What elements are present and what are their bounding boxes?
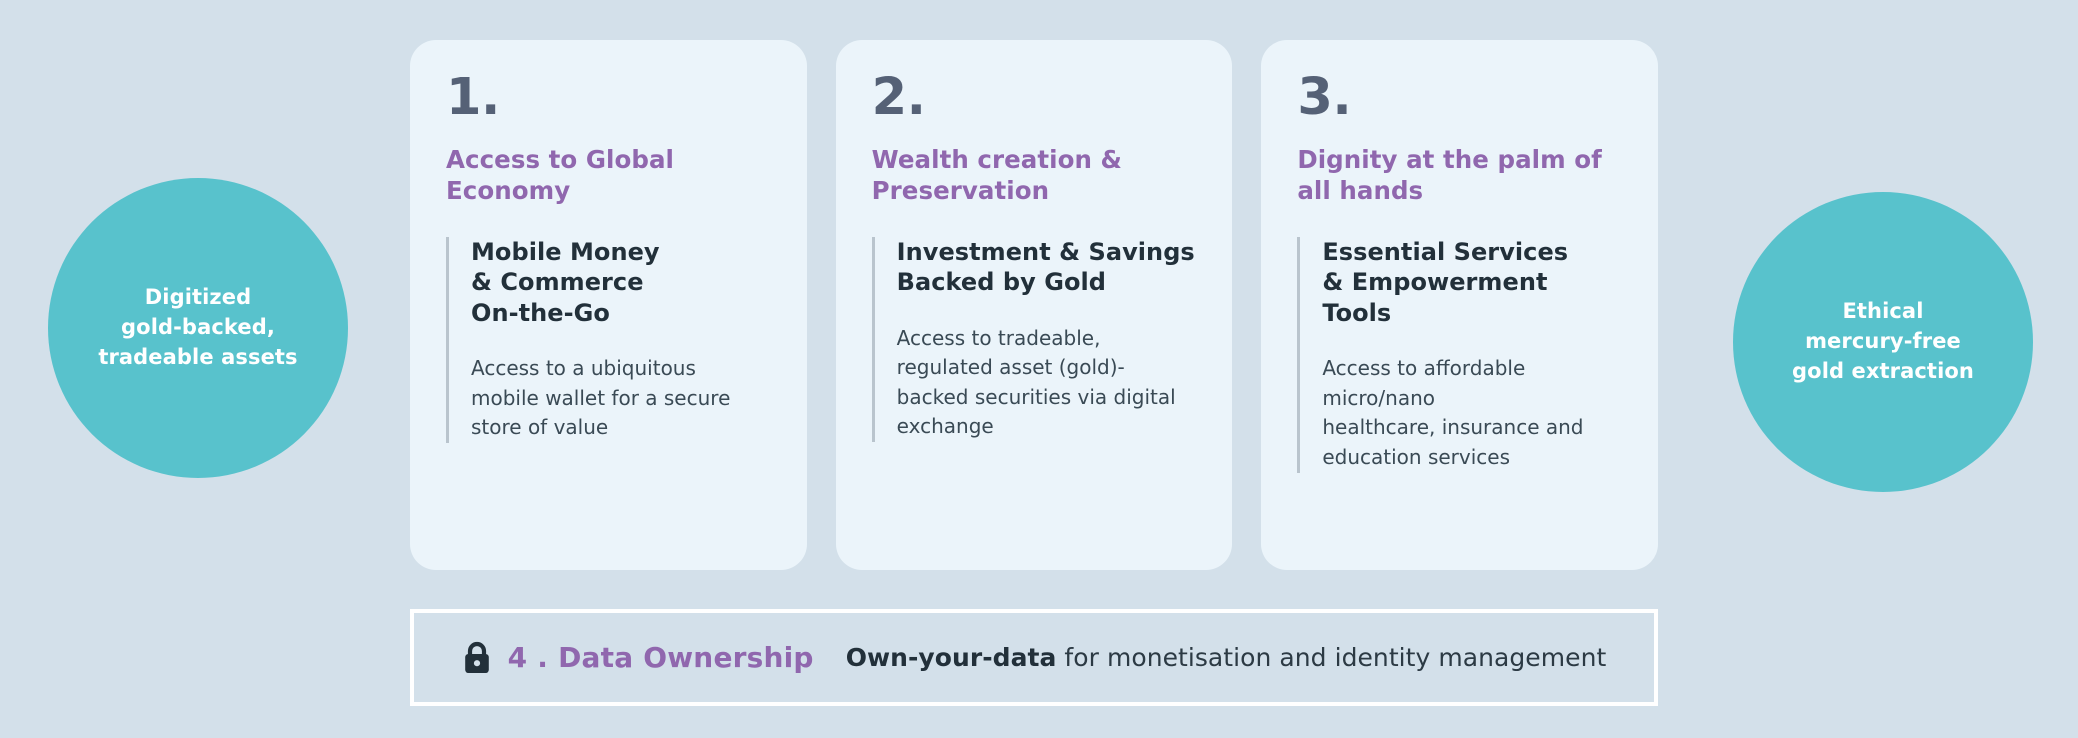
data-ownership-label: 4 . Data Ownership xyxy=(508,641,814,674)
pillar-number: 1. xyxy=(446,72,771,123)
pillar-description: Access to tradeable, regulated asset (go… xyxy=(897,324,1197,442)
pillar-body: Investment & Savings Backed by Gold Acce… xyxy=(872,237,1197,442)
infographic-canvas: Digitized gold-backed, tradeable assets … xyxy=(0,0,2078,738)
pillar-number: 3. xyxy=(1297,72,1622,123)
pillar-title: Dignity at the palm of all hands xyxy=(1297,145,1622,207)
data-ownership-text-rest: for monetisation and identity management xyxy=(1056,643,1606,672)
lock-icon xyxy=(462,641,492,675)
pillar-description: Access to affordable micro/nano healthca… xyxy=(1322,354,1622,472)
right-highlight-circle: Ethical mercury-free gold extraction xyxy=(1733,192,2033,492)
pillar-description: Access to a ubiquitous mobile wallet for… xyxy=(471,354,771,443)
left-highlight-circle: Digitized gold-backed, tradeable assets xyxy=(48,178,348,478)
pillar-cards-row: 1. Access to Global Economy Mobile Money… xyxy=(410,40,1658,570)
pillar-body: Essential Services & Empowerment Tools A… xyxy=(1297,237,1622,473)
pillar-card-2[interactable]: 2. Wealth creation & Preservation Invest… xyxy=(836,40,1233,570)
right-circle-label: Ethical mercury-free gold extraction xyxy=(1792,297,1974,386)
pillar-title: Access to Global Economy xyxy=(446,145,771,207)
data-ownership-bar[interactable]: 4 . Data Ownership Own-your-data for mon… xyxy=(410,609,1658,706)
pillar-body: Mobile Money & Commerce On-the-Go Access… xyxy=(446,237,771,443)
pillar-number: 2. xyxy=(872,72,1197,123)
data-ownership-text-bold: Own-your-data xyxy=(846,643,1057,672)
pillar-subtitle: Investment & Savings Backed by Gold xyxy=(897,237,1197,298)
pillar-subtitle: Essential Services & Empowerment Tools xyxy=(1322,237,1622,328)
pillar-card-3[interactable]: 3. Dignity at the palm of all hands Esse… xyxy=(1261,40,1658,570)
pillar-subtitle: Mobile Money & Commerce On-the-Go xyxy=(471,237,771,328)
data-ownership-text: Own-your-data for monetisation and ident… xyxy=(846,643,1607,672)
pillar-title: Wealth creation & Preservation xyxy=(872,145,1197,207)
left-circle-label: Digitized gold-backed, tradeable assets xyxy=(98,283,297,372)
pillar-card-1[interactable]: 1. Access to Global Economy Mobile Money… xyxy=(410,40,807,570)
